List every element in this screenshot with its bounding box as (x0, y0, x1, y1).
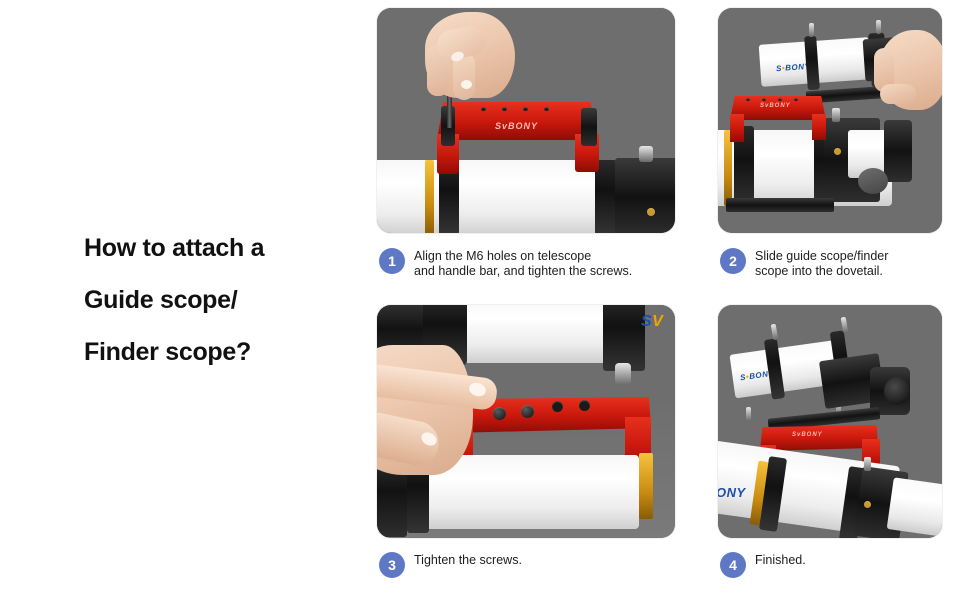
guide-ring-thumbscrew-left (809, 23, 814, 37)
screw-installed-1 (493, 407, 506, 420)
step-1-text: Align the M6 holes on telescope and hand… (414, 248, 632, 279)
step-1-caption: 1 Align the M6 holes on telescope and ha… (379, 248, 679, 279)
step-badge-4: 4 (720, 552, 746, 578)
thumb-knob (615, 363, 631, 385)
finger-b (880, 84, 916, 104)
finished-main-drawtube (887, 477, 942, 536)
tube-ring-right (595, 160, 617, 233)
eyepiece-holder (884, 120, 912, 182)
svbony-logo-partial: SV (641, 313, 663, 331)
focuser-body (615, 158, 675, 233)
m6-hole-3 (523, 107, 528, 111)
step-4-caption: 4 Finished. (720, 552, 950, 578)
page-title-line-3: Finder scope? (84, 326, 364, 378)
bar-hole-3 (778, 98, 782, 101)
step-2-caption: 2 Slide guide scope/finder scope into th… (720, 248, 950, 279)
finished-eyepiece-lens (884, 377, 910, 405)
step-1-photo: SvBONY (377, 8, 675, 233)
step-badge-3: 3 (379, 552, 405, 578)
screw-installed-2 (521, 405, 534, 418)
main-brass-screw (834, 148, 841, 155)
photo-step-4: S•BONY SvBONY ONY (718, 305, 942, 538)
step-4-photo: S•BONY SvBONY ONY (718, 305, 942, 538)
photo-step-1: SvBONY (377, 8, 675, 233)
svbony-logo-finished-bar: SvBONY (792, 432, 823, 438)
bar-hole-2 (762, 98, 766, 101)
lower-gold-ring (639, 453, 653, 519)
brass-screw (647, 208, 655, 216)
page-title: How to attach a Guide scope/ Finder scop… (84, 222, 364, 378)
open-m6-hole-1 (552, 401, 563, 412)
dew-shield-gold-ring (425, 160, 434, 233)
step-4-text: Finished. (755, 552, 806, 568)
finished-red-bar (760, 425, 878, 451)
dust-cap (858, 168, 888, 194)
step-3-photo: SV (377, 305, 675, 538)
svbony-logo-red-bar: SvBONY (760, 103, 791, 109)
page-title-line-1: How to attach a (84, 222, 364, 274)
photo-step-3: SV (377, 305, 675, 538)
main-focus-knob (832, 108, 840, 122)
mount-base (726, 198, 834, 212)
focuser-knob (639, 146, 653, 162)
bar-hole-1 (746, 98, 750, 101)
red-bar-leg-left (730, 114, 744, 142)
step-badge-1: 1 (379, 248, 405, 274)
step-2-text: Slide guide scope/finder scope into the … (755, 248, 888, 279)
fingernail (461, 80, 472, 89)
bar-hole-4 (794, 98, 798, 101)
page-title-line-2: Guide scope/ (84, 274, 364, 326)
dovetail-slot-right (581, 108, 597, 146)
finished-main-brass-screw (864, 501, 871, 508)
svbony-logo-main-partial: ONY (718, 485, 746, 500)
finished-thumbscrew-3 (746, 407, 751, 421)
m6-hole-4 (544, 107, 549, 111)
guide-ring-thumbscrew-right (876, 20, 881, 34)
open-m6-hole-2 (579, 400, 590, 411)
red-bar-leg-right (812, 114, 826, 140)
finished-main-knob (864, 457, 871, 471)
photo-step-2: S•BONY SvBONY (718, 8, 942, 233)
instruction-infographic: How to attach a Guide scope/ Finder scop… (0, 0, 970, 600)
m6-hole-2 (502, 107, 507, 111)
step-3-text: Tighten the screws. (414, 552, 522, 568)
step-badge-2: 2 (720, 248, 746, 274)
m6-hole-1 (481, 107, 486, 111)
svbony-logo-red: SvBONY (495, 121, 538, 131)
finished-thumbscrew-1 (771, 324, 779, 341)
step-3-caption: 3 Tighten the screws. (379, 552, 679, 578)
step-2-photo: S•BONY SvBONY (718, 8, 942, 233)
upper-ring-right (603, 305, 645, 371)
